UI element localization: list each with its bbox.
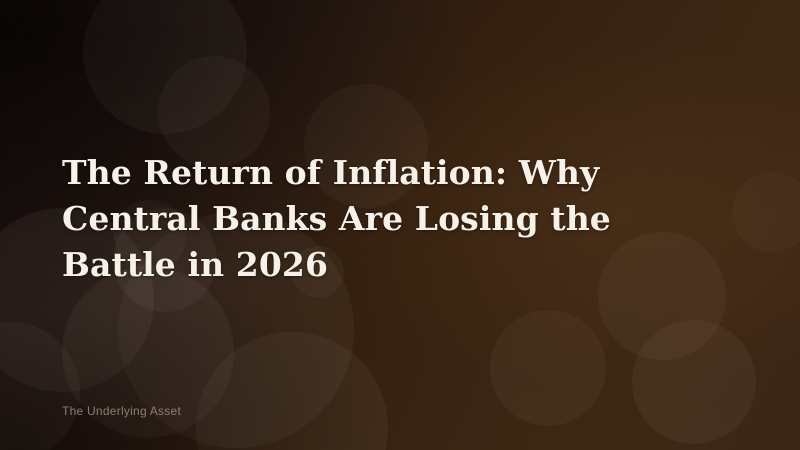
title-slide: The Return of Inflation: Why Central Ban… <box>0 0 800 450</box>
page-title: The Return of Inflation: Why Central Ban… <box>62 150 702 288</box>
footer-brand-label: The Underlying Asset <box>62 404 181 418</box>
